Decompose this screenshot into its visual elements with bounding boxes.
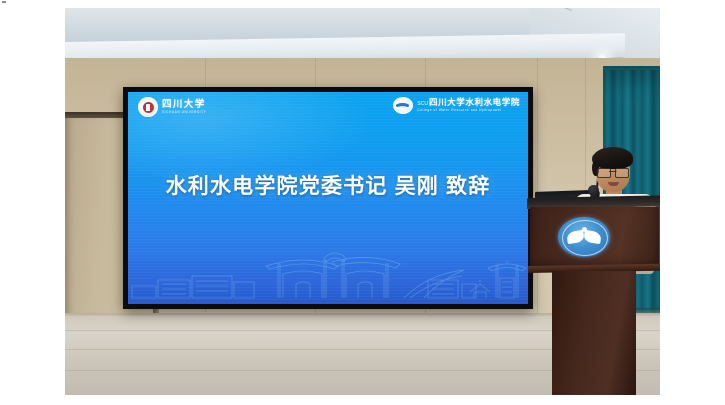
matte-left [0, 0, 65, 405]
screen-logo-row: 四川大学 SICHUAN UNIVERSITY SCU 四川大学水利水电学院 C… [128, 97, 528, 123]
college-water-emblem-icon [393, 97, 413, 114]
podium-emblem-icon [558, 217, 610, 257]
matte-top [0, 0, 725, 8]
college-logo-mark: SCU [417, 102, 428, 107]
college-name-en: College of Water Resource and Hydropower [417, 109, 520, 112]
university-name-en: SICHUAN UNIVERSITY [162, 111, 206, 114]
university-seal-icon [138, 97, 158, 117]
college-name-cn: 四川大学水利水电学院 [429, 98, 520, 107]
screenshot-canvas: 四川大学 SICHUAN UNIVERSITY SCU 四川大学水利水电学院 C… [0, 0, 725, 405]
led-presentation-screen[interactable]: 四川大学 SICHUAN UNIVERSITY SCU 四川大学水利水电学院 C… [128, 92, 528, 304]
sichuan-university-logo: 四川大学 SICHUAN UNIVERSITY [138, 97, 206, 117]
matte-right [660, 0, 725, 405]
presentation-title: 水利水电学院党委书记 吴刚 致辞 [128, 170, 528, 200]
conference-photograph: 四川大学 SICHUAN UNIVERSITY SCU 四川大学水利水电学院 C… [65, 8, 660, 395]
corner-marker [2, 1, 6, 3]
wall-panel-seam [537, 58, 538, 320]
eyeglasses-icon [597, 168, 629, 176]
screen-bottom-glow [128, 254, 528, 304]
university-name-cn: 四川大学 [162, 100, 206, 110]
college-logo: SCU 四川大学水利水电学院 College of Water Resource… [393, 97, 520, 114]
podium-column [552, 271, 636, 395]
speaker-hair [593, 147, 633, 169]
campus-skyline-silhouette [128, 236, 528, 304]
matte-bottom [0, 395, 725, 405]
